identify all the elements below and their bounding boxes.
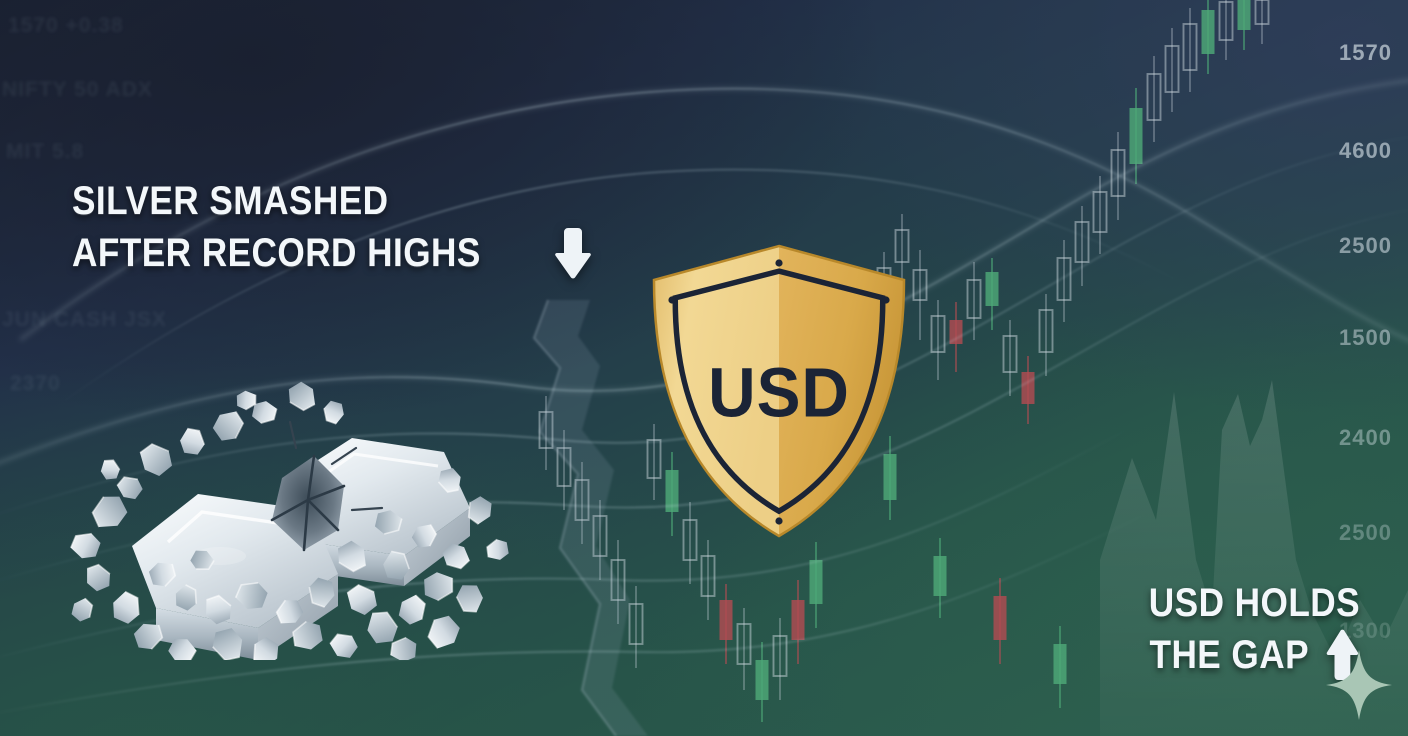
candle-body <box>1054 644 1067 684</box>
silver-shard <box>319 397 350 428</box>
silver-shard <box>483 535 513 565</box>
headline-left-line2: AFTER RECORD HIGHS <box>72 228 481 278</box>
candle-body <box>720 600 733 640</box>
headline-left: SILVER SMASHED AFTER RECORD HIGHS <box>72 176 593 280</box>
candle-body <box>792 600 805 640</box>
ticker-line: 1570 +0.38 <box>8 14 124 38</box>
candle-body <box>1202 10 1215 54</box>
usd-gap-line <box>534 300 648 736</box>
candle-body <box>1238 0 1251 30</box>
headline-right-line2: THE GAP <box>1149 630 1309 680</box>
candle-body <box>810 560 823 604</box>
silver-shard <box>140 444 172 476</box>
candle-body <box>1022 372 1035 404</box>
silver-shard <box>82 562 114 594</box>
sparkle-star-icon <box>1322 646 1396 724</box>
headline-left-line1: SILVER SMASHED <box>72 176 530 226</box>
candle-body <box>986 272 999 306</box>
candle-body <box>934 556 947 596</box>
silver-shard <box>328 630 360 660</box>
silver-shard <box>212 410 244 442</box>
ticker-line: JUN CASH JSX <box>2 308 167 332</box>
silver-shard <box>347 585 378 616</box>
price-axis-label: 2400 <box>1339 425 1392 451</box>
price-axis-label: 1500 <box>1339 325 1392 351</box>
price-axis-label: 4600 <box>1339 138 1392 164</box>
price-axis-label: 1570 <box>1339 40 1392 66</box>
silver-shard <box>106 588 146 628</box>
silver-shard <box>396 594 429 627</box>
headline-right-line1: USD HOLDS <box>1149 578 1360 628</box>
silver-shard <box>90 492 130 532</box>
ticker-line: NIFTY 50 ADX <box>2 78 153 102</box>
price-axis-label: 2500 <box>1339 233 1392 259</box>
price-axis-label: 2500 <box>1339 520 1392 546</box>
ticker-line: MIT 5.8 <box>6 140 84 164</box>
silver-shard <box>427 615 461 649</box>
candle-body <box>756 660 769 700</box>
silver-shard <box>69 597 94 622</box>
arrow-down-icon <box>553 226 593 280</box>
shield-icon: USD <box>648 238 910 544</box>
silver-shard <box>450 578 489 617</box>
candle-body <box>994 596 1007 640</box>
silver-shard <box>96 456 124 484</box>
infographic-canvas: 1570 +0.38NIFTY 50 ADXMIT 5.8JUN CASH JS… <box>0 0 1408 736</box>
candle-body <box>1130 108 1143 164</box>
shield-label: USD <box>708 355 850 432</box>
silver-shard <box>67 527 105 565</box>
silver-shard <box>286 380 318 412</box>
silver-shard <box>174 424 211 461</box>
shattered-silver-bars-icon <box>52 360 532 660</box>
